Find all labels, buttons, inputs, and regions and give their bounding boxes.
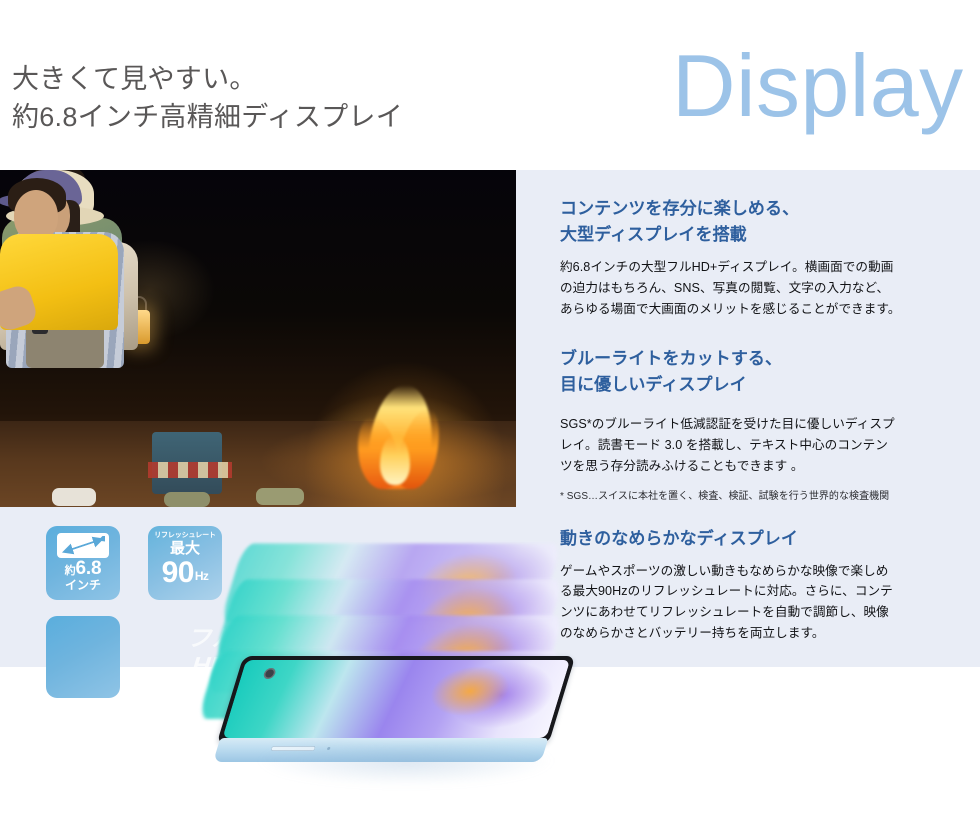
- feature-body: ゲームやスポーツの激しい動きもなめらかな映像で楽しめ る最大90Hzのリフレッシ…: [560, 561, 970, 644]
- section-title-display: Display: [672, 42, 964, 130]
- photo-shoe-2: [256, 488, 304, 505]
- badge-resolution: フル HD+ 2,460×1,080: [46, 616, 120, 698]
- feature-section-smooth-motion: 動きのなめらかなディスプレイ ゲームやスポーツの激しい動きもなめらかな映像で楽し…: [560, 526, 970, 644]
- feature-footnote: * SGS…スイスに本社を置く、検査、検証、試験を行う世界的な検査機関: [560, 489, 970, 504]
- diagonal-arrow-icon: [61, 536, 105, 555]
- phone-shadow: [256, 744, 556, 786]
- hero-photo-camping: [0, 170, 516, 507]
- feature-heading: 動きのなめらかなディスプレイ: [560, 526, 970, 552]
- photo-campfire: [352, 371, 448, 489]
- display-feature-page: 大きくて見やすい。 約6.8インチ高精細ディスプレイ Display: [0, 0, 980, 820]
- diagonal-screen-icon: [57, 533, 109, 558]
- badge-screen-size-number: 6.8: [75, 558, 101, 579]
- feature-heading: コンテンツを存分に楽しめる、 大型ディスプレイを搭載: [560, 196, 970, 247]
- badge-screen-size-value: 約6.8: [46, 559, 120, 579]
- badge-screen-size-prefix: 約: [65, 565, 76, 577]
- photo-shoe-3: [52, 488, 96, 506]
- phone-device: [217, 656, 576, 744]
- feature-body: SGS*のブルーライト低減認証を受けた目に優しいディスプ レイ。読書モード 3.…: [560, 414, 970, 476]
- feature-body: 約6.8インチの大型フルHD+ディスプレイ。横画面での動画 の迫力はもちろん、S…: [560, 257, 970, 319]
- photo-shoe-1: [164, 492, 210, 507]
- feature-heading: ブルーライトをカットする、 目に優しいディスプレイ: [560, 346, 970, 397]
- page-headline: 大きくて見やすい。 約6.8インチ高精細ディスプレイ: [12, 60, 403, 137]
- feature-section-blue-light: ブルーライトをカットする、 目に優しいディスプレイ SGS*のブルーライト低減認…: [560, 346, 970, 504]
- feature-section-large-display: コンテンツを存分に楽しめる、 大型ディスプレイを搭載 約6.8インチの大型フルH…: [560, 196, 970, 319]
- badge-screen-size: 約6.8 インチ: [46, 526, 120, 600]
- photo-blanket: [148, 462, 232, 478]
- badge-refresh-rate-number: 90: [162, 556, 194, 589]
- phone-hero-graphic: [196, 528, 576, 788]
- badge-screen-size-unit: インチ: [46, 579, 120, 591]
